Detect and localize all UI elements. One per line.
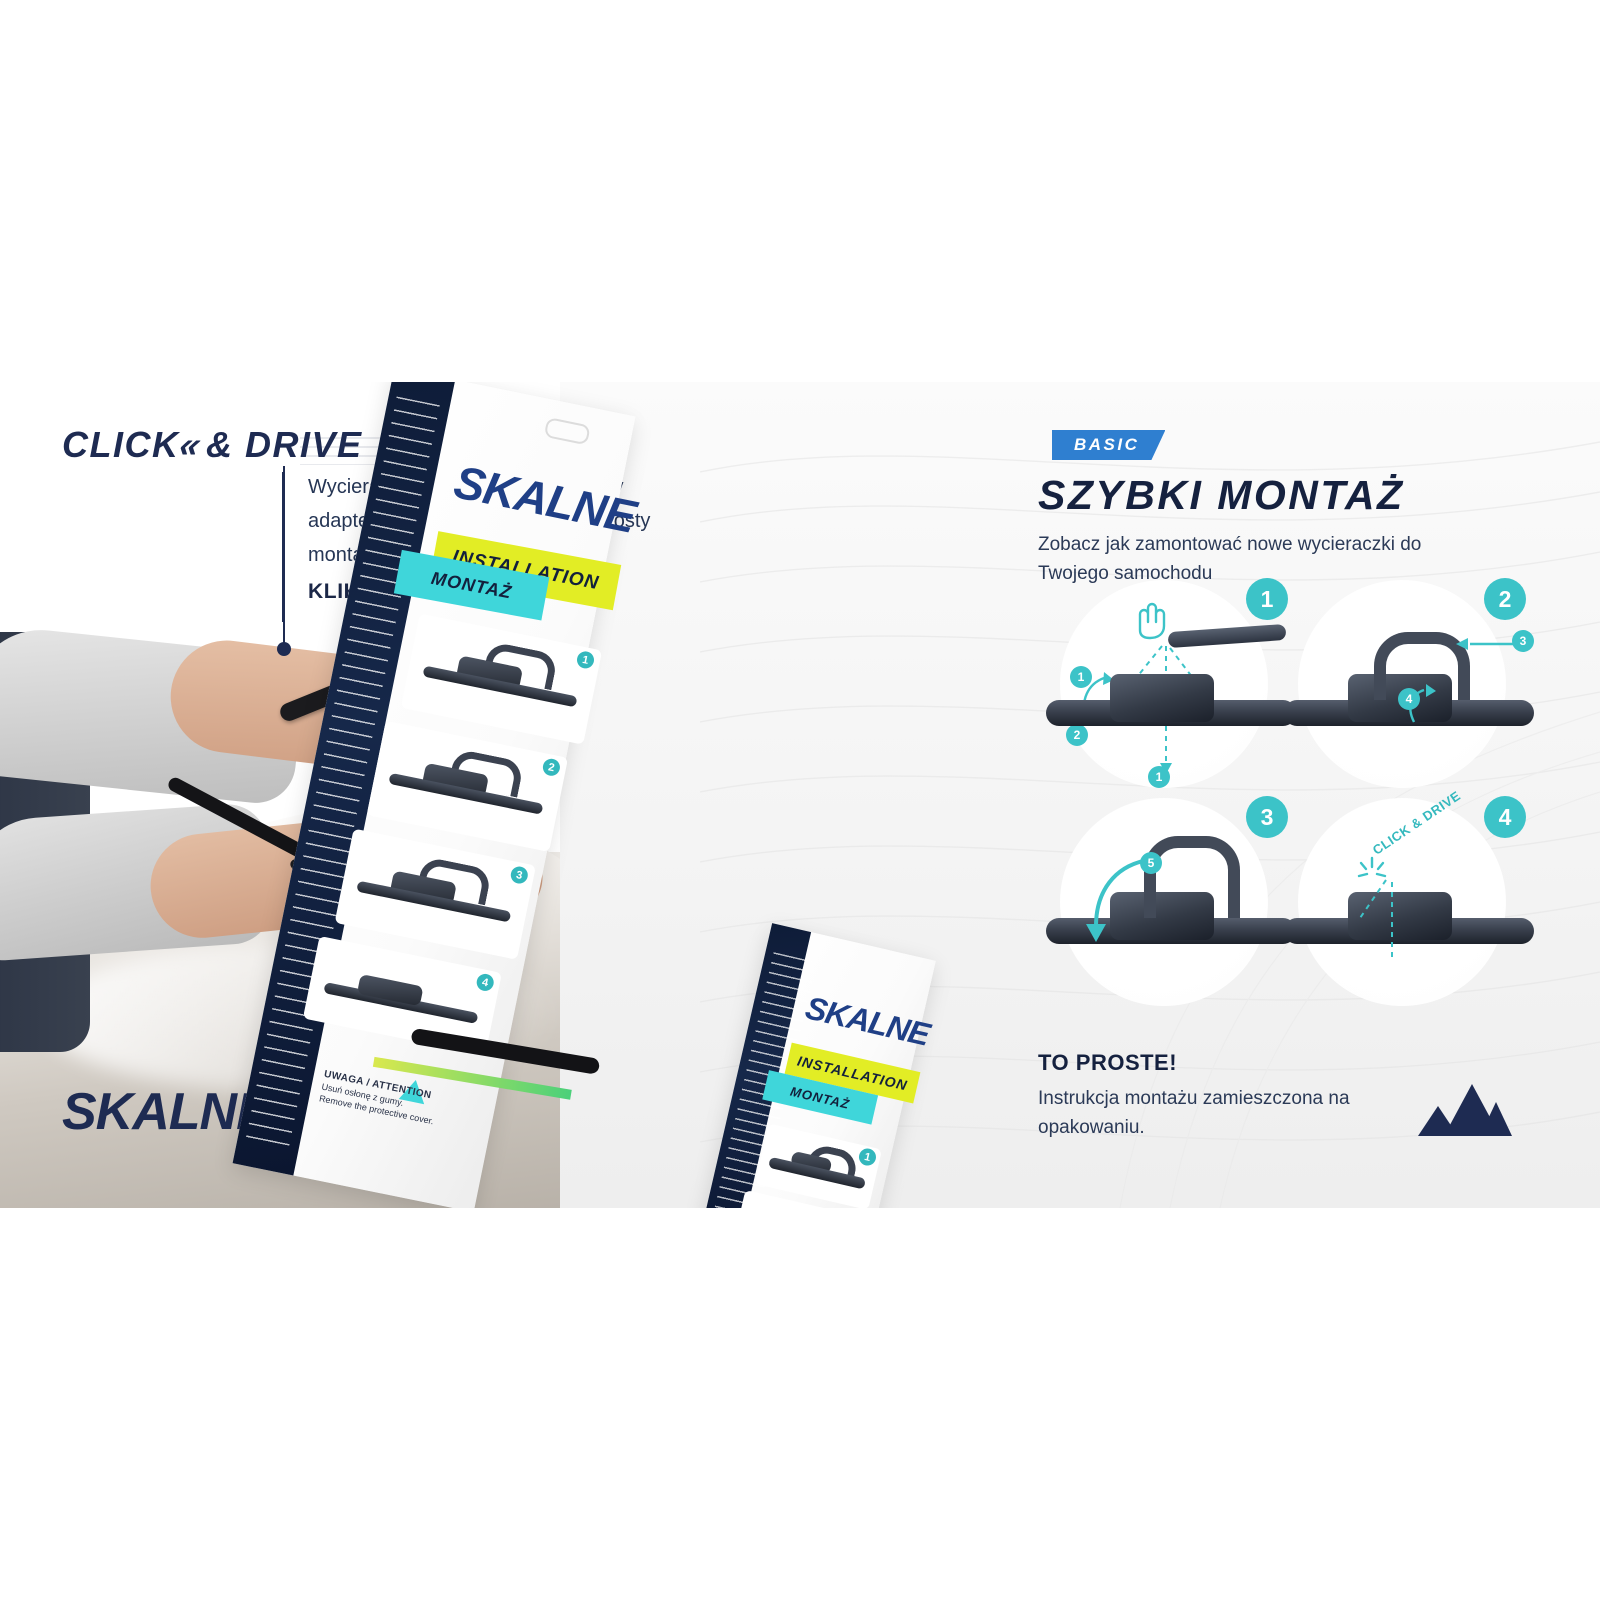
install-step-3: 3 5 bbox=[1040, 796, 1302, 1008]
callout-leader-dot bbox=[277, 642, 291, 656]
headline-click: CLICK bbox=[62, 424, 180, 465]
step1-marker-a: 1 bbox=[1070, 666, 1092, 688]
mountain-logo bbox=[1416, 1082, 1514, 1138]
rotate-down-arrow-icon bbox=[1074, 850, 1184, 958]
install-step-1: 1 1 bbox=[1040, 578, 1302, 790]
basic-badge: BASIC bbox=[1052, 430, 1165, 460]
install-step-4: 4 CLICK & DRIVE bbox=[1278, 796, 1540, 1008]
headline-drive: & DRIVE bbox=[195, 424, 363, 465]
footer-text: Instrukcja montażu zamieszczona na opako… bbox=[1038, 1084, 1368, 1142]
step2-marker-b: 4 bbox=[1398, 688, 1420, 710]
footer-title: TO PROSTE! bbox=[1038, 1050, 1177, 1076]
panel-title: SZYBKI MONTAŻ bbox=[1038, 472, 1405, 519]
instructions-panel: BASIC SZYBKI MONTAŻ Zobacz jak zamontowa… bbox=[1030, 382, 1600, 1208]
step-marker: 4 bbox=[475, 972, 495, 992]
step4-guides bbox=[1338, 876, 1458, 972]
step2-marker-a: 3 bbox=[1512, 630, 1534, 652]
blade-adapter bbox=[1110, 674, 1214, 722]
step1-marker-b: 2 bbox=[1066, 724, 1088, 746]
copy-accent-bar bbox=[282, 472, 285, 622]
step-number-badge: 2 bbox=[1484, 578, 1526, 620]
step2-guides bbox=[1302, 622, 1532, 752]
step-marker: 2 bbox=[541, 757, 561, 777]
step-marker: 3 bbox=[509, 865, 529, 885]
step1-marker-c: 1 bbox=[1148, 766, 1170, 788]
step-number-badge: 4 bbox=[1484, 796, 1526, 838]
banner-canvas: CLICK« & DRIVE Wycieraczki posiadają dop… bbox=[0, 0, 1600, 1600]
step-grid: 1 1 bbox=[1030, 578, 1590, 1008]
step-marker: 1 bbox=[857, 1147, 877, 1167]
product-banner: CLICK« & DRIVE Wycieraczki posiadają dop… bbox=[0, 382, 1600, 1208]
step-marker: 1 bbox=[575, 650, 595, 670]
install-step-2: 2 3 4 bbox=[1278, 578, 1540, 790]
click-and-drive-headline: CLICK« & DRIVE bbox=[62, 424, 363, 466]
step3-marker-a: 5 bbox=[1140, 852, 1162, 874]
